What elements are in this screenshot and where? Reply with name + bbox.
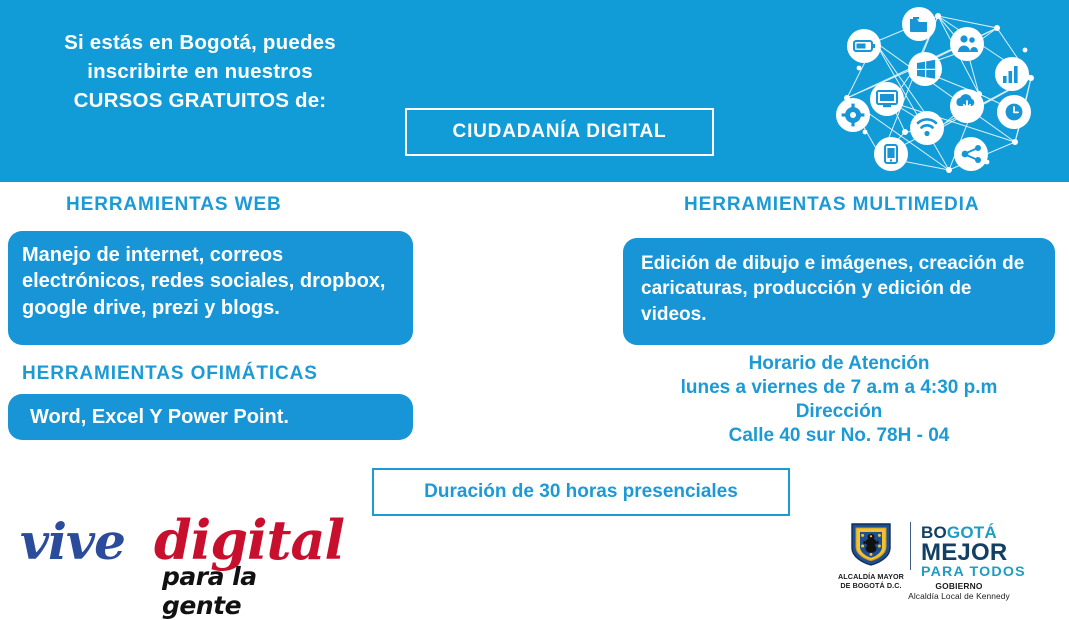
course-title-label: CIUDADANÍA DIGITAL xyxy=(453,121,667,143)
heading-herramientas-web: HERRAMIENTAS WEB xyxy=(66,194,282,216)
alcaldia-local-label: Alcaldía Local de Kennedy xyxy=(852,591,1066,601)
headline-line-3: CURSOS GRATUITOS de: xyxy=(30,86,370,115)
wifi-icon xyxy=(910,111,944,145)
vive-digital-tagline: para la gente xyxy=(162,562,334,620)
vive-digital-wordmark: vive digital xyxy=(14,512,334,566)
alcaldia-shield-block: ALCALDÍA MAYOR DE BOGOTÁ D.C. xyxy=(838,522,904,591)
box-herramientas-multimedia: Edición de dibujo e imágenes, creación d… xyxy=(623,238,1055,345)
address-value: Calle 40 sur No. 78H - 04 xyxy=(613,424,1065,448)
alcaldia-caption: ALCALDÍA MAYOR DE BOGOTÁ D.C. xyxy=(838,573,904,591)
schedule-block: Horario de Atención lunes a viernes de 7… xyxy=(613,352,1065,449)
bogota-coat-of-arms-icon xyxy=(848,522,894,566)
para-todos-word: PARA TODOS xyxy=(921,565,1026,580)
people-icon xyxy=(950,27,984,61)
heading-herramientas-ofimaticas: HERRAMIENTAS OFIMÁTICAS xyxy=(22,363,318,385)
box-herramientas-ofimaticas: Word, Excel Y Power Point. xyxy=(8,394,413,440)
box-herramientas-web: Manejo de internet, correos electrónicos… xyxy=(8,231,413,345)
duration-box: Duración de 30 horas presenciales xyxy=(372,468,790,516)
heading-herramientas-multimedia: HERRAMIENTAS MULTIMEDIA xyxy=(684,194,979,216)
schedule-hours: lunes a viernes de 7 a.m a 4:30 p.m xyxy=(613,376,1065,400)
schedule-title: Horario de Atención xyxy=(613,352,1065,376)
course-title-box: CIUDADANÍA DIGITAL xyxy=(405,108,714,156)
duration-label: Duración de 30 horas presenciales xyxy=(424,481,738,503)
alcaldia-line-2: DE BOGOTÁ D.C. xyxy=(838,582,904,591)
gov-logo-main: ALCALDÍA MAYOR DE BOGOTÁ D.C. BOGOTÁ MEJ… xyxy=(838,522,1066,580)
gov-logo: ALCALDÍA MAYOR DE BOGOTÁ D.C. BOGOTÁ MEJ… xyxy=(838,522,1066,606)
logo-divider xyxy=(910,522,911,570)
vive-digital-logo: vive digital para la gente xyxy=(14,512,334,604)
header-banner: Si estás en Bogotá, puedes inscribirte e… xyxy=(0,0,1069,182)
bogota-mejor-para-todos-lockup: BOGOTÁ MEJOR PARA TODOS xyxy=(921,522,1026,580)
poster-canvas: Si estás en Bogotá, puedes inscribirte e… xyxy=(0,0,1069,610)
address-title: Dirección xyxy=(613,400,1065,424)
banner-headline: Si estás en Bogotá, puedes inscribirte e… xyxy=(30,28,370,115)
network-graphic xyxy=(819,2,1057,180)
headline-line-2: inscribirte en nuestros xyxy=(30,57,370,86)
mejor-word: MEJOR xyxy=(921,541,1026,565)
windows-icon xyxy=(908,52,942,86)
vive-word: vive xyxy=(20,512,125,571)
headline-line-1: Si estás en Bogotá, puedes xyxy=(30,28,370,57)
share-icon xyxy=(954,137,988,171)
